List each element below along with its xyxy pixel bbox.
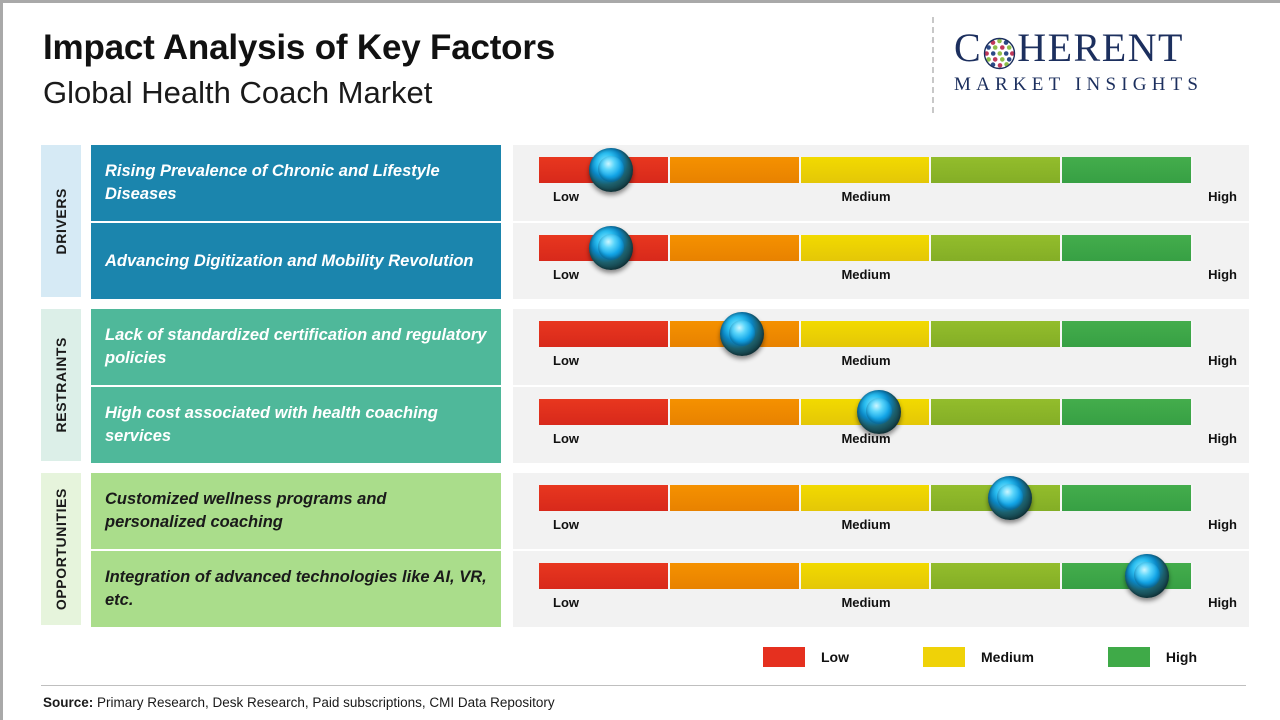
globe-dot-icon <box>983 34 1016 67</box>
impact-marker[interactable] <box>720 312 764 356</box>
source-line: Source: Primary Research, Desk Research,… <box>43 695 555 710</box>
gauge-segment-4 <box>931 563 1062 589</box>
impact-gauge: Low Medium High <box>513 387 1249 463</box>
legend: Low Medium High <box>763 647 1197 667</box>
impact-marker[interactable] <box>589 148 633 192</box>
impact-gauge: Low Medium High <box>513 223 1249 299</box>
factor-box: Lack of standardized certification and r… <box>91 309 501 385</box>
gauge-segment-2 <box>670 157 801 183</box>
gauge-segment-medium <box>801 321 932 347</box>
gauge-bar <box>539 563 1193 589</box>
gauge-segment-low <box>539 321 670 347</box>
legend-swatch-high <box>1108 647 1150 667</box>
matrix-row: RESTRAINTS Lack of standardized certific… <box>41 309 1249 385</box>
legend-item-medium: Medium <box>923 647 1034 667</box>
impact-marker[interactable] <box>988 476 1032 520</box>
factor-text: Advancing Digitization and Mobility Revo… <box>105 250 474 273</box>
category-spacer <box>41 473 81 549</box>
gauge-scale: Low Medium High <box>539 267 1193 287</box>
legend-label: Low <box>821 649 849 665</box>
matrix-row: OPPORTUNITIES Customized wellness progra… <box>41 473 1249 549</box>
gauge-segment-high <box>1062 399 1193 425</box>
gauge-bar <box>539 235 1193 261</box>
impact-gauge: Low Medium High <box>513 309 1249 385</box>
scale-label-high: High <box>1208 517 1237 532</box>
impact-gauge: Low Medium High <box>513 145 1249 221</box>
gauge-bar <box>539 485 1193 511</box>
factor-box: Integration of advanced technologies lik… <box>91 551 501 627</box>
gauge-segment-high <box>1062 157 1193 183</box>
scale-label-high: High <box>1208 189 1237 204</box>
impact-marker[interactable] <box>857 390 901 434</box>
impact-marker[interactable] <box>1125 554 1169 598</box>
gauge-segment-2 <box>670 485 801 511</box>
logo-letter-c: C <box>954 25 982 71</box>
factor-box: Rising Prevalence of Chronic and Lifesty… <box>91 145 501 221</box>
matrix-row: Integration of advanced technologies lik… <box>41 551 1249 627</box>
impact-gauge: Low Medium High <box>513 473 1249 549</box>
factor-box: Customized wellness programs and persona… <box>91 473 501 549</box>
gauge-segment-low <box>539 485 670 511</box>
factor-text: High cost associated with health coachin… <box>105 402 487 448</box>
gauge-segment-4 <box>931 321 1062 347</box>
category-spacer <box>41 551 81 627</box>
category-spacer <box>41 309 81 385</box>
legend-item-low: Low <box>763 647 849 667</box>
factor-box: High cost associated with health coachin… <box>91 387 501 463</box>
matrix-row: DRIVERS Rising Prevalence of Chronic and… <box>41 145 1249 221</box>
scale-label-high: High <box>1208 431 1237 446</box>
legend-label: Medium <box>981 649 1034 665</box>
gauge-segment-2 <box>670 563 801 589</box>
factor-text: Lack of standardized certification and r… <box>105 324 487 370</box>
source-label: Source: <box>43 695 93 710</box>
gauge-segment-low <box>539 399 670 425</box>
category-spacer <box>41 145 81 221</box>
company-logo: C <box>932 17 1262 113</box>
gauge-scale: Low Medium High <box>539 595 1193 615</box>
gauge-segment-medium <box>801 485 932 511</box>
gauge-bar <box>539 321 1193 347</box>
gauge-scale: Low Medium High <box>539 353 1193 373</box>
category-spacer <box>41 387 81 463</box>
gauge-segment-high <box>1062 321 1193 347</box>
slide-canvas: Impact Analysis of Key Factors Global He… <box>0 0 1280 720</box>
logo-wordmark: C <box>954 25 1254 71</box>
legend-swatch-medium <box>923 647 965 667</box>
matrix-row: High cost associated with health coachin… <box>41 387 1249 463</box>
factor-text: Rising Prevalence of Chronic and Lifesty… <box>105 160 487 206</box>
impact-matrix: DRIVERS Rising Prevalence of Chronic and… <box>41 145 1249 629</box>
category-spacer <box>41 223 81 299</box>
logo-letters-herent: HERENT <box>1017 25 1184 71</box>
scale-label-high: High <box>1208 267 1237 282</box>
gauge-segment-low <box>539 563 670 589</box>
legend-swatch-low <box>763 647 805 667</box>
legend-item-high: High <box>1108 647 1197 667</box>
scale-label-low: Low <box>553 189 579 204</box>
gauge-segment-high <box>1062 235 1193 261</box>
scale-label-high: High <box>1208 595 1237 610</box>
logo-tagline: MARKET INSIGHTS <box>954 73 1254 97</box>
scale-label-low: Low <box>553 595 579 610</box>
footer-divider <box>41 685 1246 686</box>
scale-label-low: Low <box>553 431 579 446</box>
scale-label-medium: Medium <box>841 267 890 282</box>
impact-gauge: Low Medium High <box>513 551 1249 627</box>
matrix-row: Advancing Digitization and Mobility Revo… <box>41 223 1249 299</box>
gauge-scale: Low Medium High <box>539 517 1193 537</box>
gauge-scale: Low Medium High <box>539 189 1193 209</box>
scale-label-medium: Medium <box>841 517 890 532</box>
factor-box: Advancing Digitization and Mobility Revo… <box>91 223 501 299</box>
scale-label-low: Low <box>553 267 579 282</box>
gauge-segment-medium <box>801 235 932 261</box>
gauge-segment-medium <box>801 563 932 589</box>
source-text: Primary Research, Desk Research, Paid su… <box>93 695 554 710</box>
scale-label-medium: Medium <box>841 189 890 204</box>
gauge-scale: Low Medium High <box>539 431 1193 451</box>
gauge-bar <box>539 157 1193 183</box>
gauge-segment-4 <box>931 157 1062 183</box>
scale-label-high: High <box>1208 353 1237 368</box>
scale-label-low: Low <box>553 517 579 532</box>
gauge-segment-2 <box>670 235 801 261</box>
gauge-bar <box>539 399 1193 425</box>
impact-marker[interactable] <box>589 226 633 270</box>
factor-text: Customized wellness programs and persona… <box>105 488 487 534</box>
gauge-segment-2 <box>670 399 801 425</box>
scale-label-medium: Medium <box>841 353 890 368</box>
gauge-segment-medium <box>801 157 932 183</box>
gauge-segment-high <box>1062 485 1193 511</box>
scale-label-low: Low <box>553 353 579 368</box>
scale-label-medium: Medium <box>841 595 890 610</box>
logo-divider <box>932 17 934 113</box>
scale-label-medium: Medium <box>841 431 890 446</box>
legend-label: High <box>1166 649 1197 665</box>
gauge-segment-4 <box>931 399 1062 425</box>
gauge-segment-4 <box>931 235 1062 261</box>
factor-text: Integration of advanced technologies lik… <box>105 566 487 612</box>
